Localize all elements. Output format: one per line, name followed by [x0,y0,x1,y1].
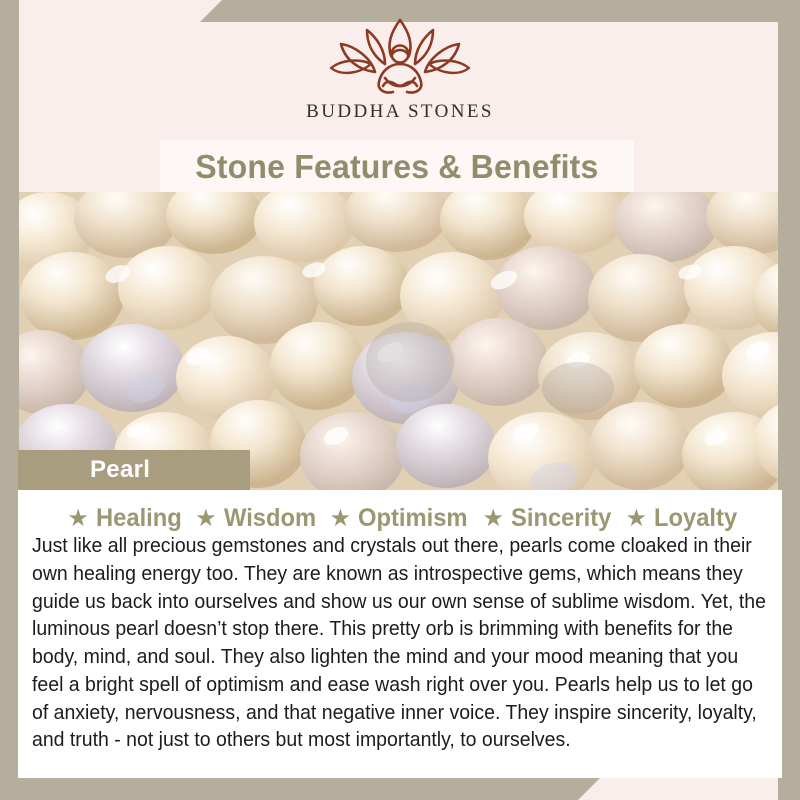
benefit-item-sincerity: ★ Sincerity [473,506,616,531]
content-card: ★ Healing ★ Wisdom ★ Optimism ★ Sincerit… [18,490,782,778]
lotus-meditation-figure-icon [315,16,485,98]
page-title: Stone Features & Benefits [195,150,598,183]
stone-name-label: Pearl [90,456,150,484]
benefit-label: Sincerity [511,506,611,531]
star-icon: ★ [67,507,89,531]
benefit-label: Healing [96,506,182,531]
title-banner: Stone Features & Benefits [160,140,634,192]
brand-name: BUDDHA STONES [306,101,494,123]
benefit-item-optimism: ★ Optimism [321,506,474,531]
benefit-item-healing: ★ Healing [58,506,186,531]
description-paragraph: Just like all precious gemstones and cry… [32,533,766,755]
brand-header: BUDDHA STONES [0,0,800,140]
benefit-item-loyalty: ★ Loyalty [617,506,742,531]
poster-root: BUDDHA STONES [0,0,800,800]
pearl-photo [18,192,800,490]
stone-name-tag: Pearl [18,450,250,490]
benefit-label: Wisdom [224,506,316,531]
benefit-label: Loyalty [654,506,737,531]
decorative-frame-bottom [0,778,600,800]
benefits-list: ★ Healing ★ Wisdom ★ Optimism ★ Sincerit… [32,506,768,531]
benefit-label: Optimism [358,506,468,531]
star-icon: ★ [626,507,648,531]
benefit-item-wisdom: ★ Wisdom [186,506,321,531]
star-icon: ★ [330,507,352,531]
star-icon: ★ [195,507,217,531]
pearl-photo-illustration [18,192,800,490]
star-icon: ★ [482,507,504,531]
